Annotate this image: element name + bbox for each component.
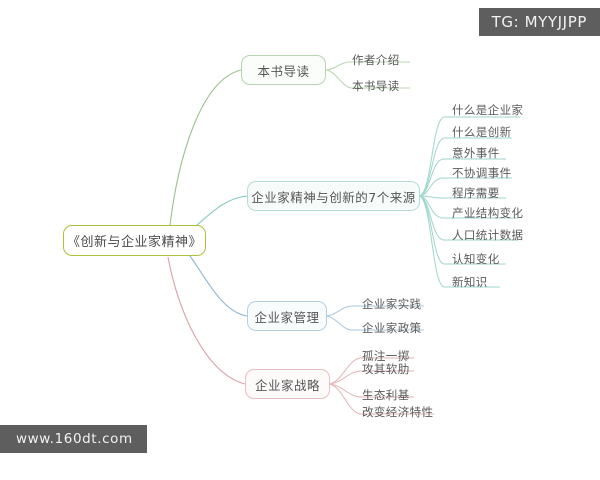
mindmap-leaf-1-6[interactable]: 人口统计数据 <box>452 229 523 242</box>
mindmap-branch-label-3: 企业家战略 <box>255 375 320 394</box>
mindmap-leaf-1-3[interactable]: 不协调事件 <box>452 167 512 180</box>
mindmap-leaf-label-1-4: 程序需要 <box>452 186 500 200</box>
mindmap-leaf-label-0-1: 本书导读 <box>352 79 400 93</box>
mindmap-leaf-1-8[interactable]: 新知识 <box>452 276 488 289</box>
mindmap-leaf-1-2[interactable]: 意外事件 <box>452 147 500 160</box>
link-root-to-branch-1 <box>196 196 247 226</box>
mindmap-canvas: 《创新与企业家精神》 本书导读 作者介绍 本书导读 企业家精神与创新的7个来源 … <box>0 0 600 480</box>
mindmap-branch-label-0: 本书导读 <box>257 61 309 80</box>
mindmap-branch-node-0[interactable]: 本书导读 <box>241 55 326 85</box>
mindmap-leaf-label-1-0: 什么是企业家 <box>452 103 523 117</box>
site-watermark-text: www.160dt.com <box>16 431 133 447</box>
mindmap-branch-label-1: 企业家精神与创新的7个来源 <box>251 187 415 206</box>
mindmap-leaf-label-3-3: 改变经济特性 <box>362 405 433 419</box>
mindmap-leaf-3-2[interactable]: 生态利基 <box>362 389 410 402</box>
mindmap-branch-node-2[interactable]: 企业家管理 <box>247 301 327 331</box>
mindmap-branch-node-3[interactable]: 企业家战略 <box>245 369 330 399</box>
mindmap-leaf-1-4[interactable]: 程序需要 <box>452 187 500 200</box>
mindmap-leaf-label-3-0: 孤注一掷 <box>362 349 410 363</box>
mindmap-leaf-3-1[interactable]: 攻其软肋 <box>362 363 410 376</box>
mindmap-branch-label-2: 企业家管理 <box>254 307 319 326</box>
mindmap-leaf-label-2-1: 企业家政策 <box>362 321 422 335</box>
mindmap-root-label: 《创新与企业家精神》 <box>67 231 202 250</box>
link-root-to-branch-2 <box>190 256 247 316</box>
mindmap-leaf-2-0[interactable]: 企业家实践 <box>362 298 422 311</box>
mindmap-leaf-label-1-2: 意外事件 <box>452 146 500 160</box>
mindmap-root-node[interactable]: 《创新与企业家精神》 <box>63 225 206 256</box>
mindmap-leaf-1-5[interactable]: 产业结构变化 <box>452 207 523 220</box>
mindmap-leaf-label-3-1: 攻其软肋 <box>362 362 410 376</box>
mindmap-leaf-label-3-2: 生态利基 <box>362 388 410 402</box>
site-watermark: www.160dt.com <box>0 425 147 453</box>
mindmap-leaf-label-1-6: 人口统计数据 <box>452 228 523 242</box>
mindmap-leaf-1-0[interactable]: 什么是企业家 <box>452 104 523 117</box>
mindmap-leaf-0-1[interactable]: 本书导读 <box>352 80 400 93</box>
mindmap-leaf-label-1-7: 认知变化 <box>452 252 500 266</box>
mindmap-leaf-label-1-3: 不协调事件 <box>452 166 512 180</box>
telegram-watermark: TG: MYYJJPP <box>479 8 600 36</box>
mindmap-leaf-3-3[interactable]: 改变经济特性 <box>362 406 433 419</box>
mindmap-leaf-label-2-0: 企业家实践 <box>362 297 422 311</box>
mindmap-leaf-1-1[interactable]: 什么是创新 <box>452 126 512 139</box>
mindmap-leaf-2-1[interactable]: 企业家政策 <box>362 322 422 335</box>
link-root-to-branch-0 <box>170 70 241 225</box>
link-root-to-branch-3 <box>168 257 245 384</box>
mindmap-branch-node-1[interactable]: 企业家精神与创新的7个来源 <box>247 181 420 211</box>
mindmap-leaf-1-7[interactable]: 认知变化 <box>452 253 500 266</box>
mindmap-leaf-label-1-5: 产业结构变化 <box>452 206 523 220</box>
mindmap-leaf-label-1-1: 什么是创新 <box>452 125 512 139</box>
mindmap-leaf-label-1-8: 新知识 <box>452 275 488 289</box>
mindmap-leaf-label-0-0: 作者介绍 <box>352 53 400 67</box>
mindmap-leaf-0-0[interactable]: 作者介绍 <box>352 54 400 67</box>
telegram-watermark-text: TG: MYYJJPP <box>492 13 587 31</box>
